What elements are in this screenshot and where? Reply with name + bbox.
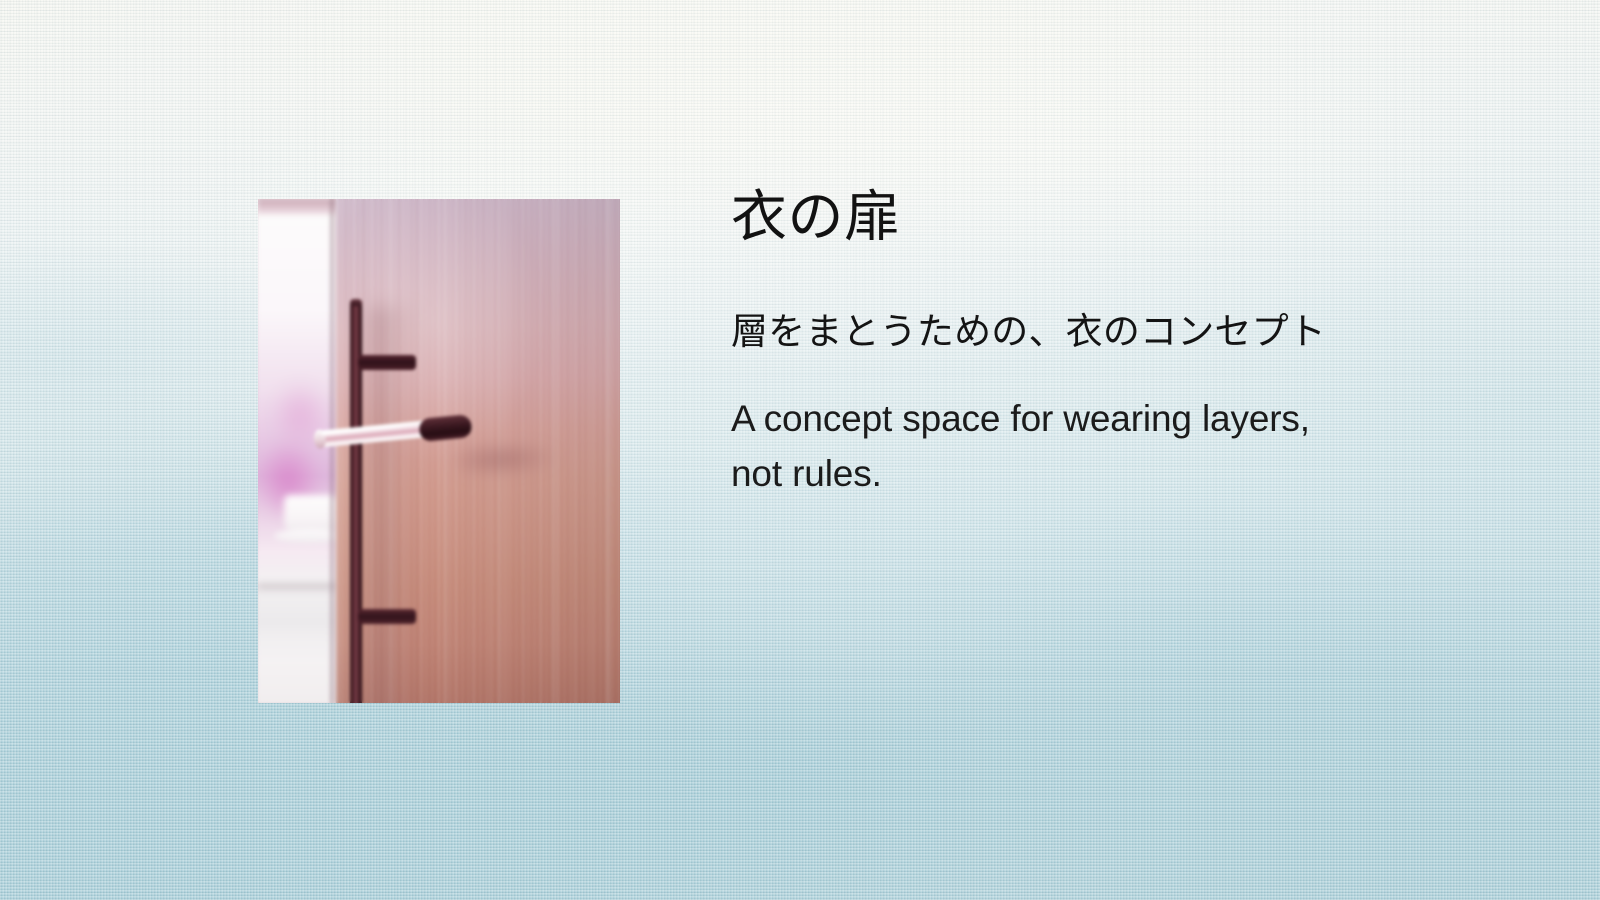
photo-room-sill: [258, 583, 338, 593]
pink-door-photo: [258, 199, 620, 703]
photo-bottom-fade: [258, 643, 620, 703]
slide-subtitle: 層をまとうための、衣のコンセプト: [731, 309, 1491, 354]
slide-canvas: 衣の扉 層をまとうための、衣のコンセプト A concept space for…: [0, 0, 1600, 900]
slide-body-text: A concept space for wearing layers, not …: [731, 392, 1351, 502]
text-column: 衣の扉 層をまとうための、衣のコンセプト A concept space for…: [731, 186, 1491, 501]
photo-pull-bar-cap: [350, 299, 362, 306]
photo-pull-bar-standoff-bottom: [358, 609, 416, 624]
photo-room-header-trim: [258, 199, 338, 217]
slide-title: 衣の扉: [731, 186, 1491, 249]
photo-pull-bar-standoff-top: [358, 355, 416, 370]
